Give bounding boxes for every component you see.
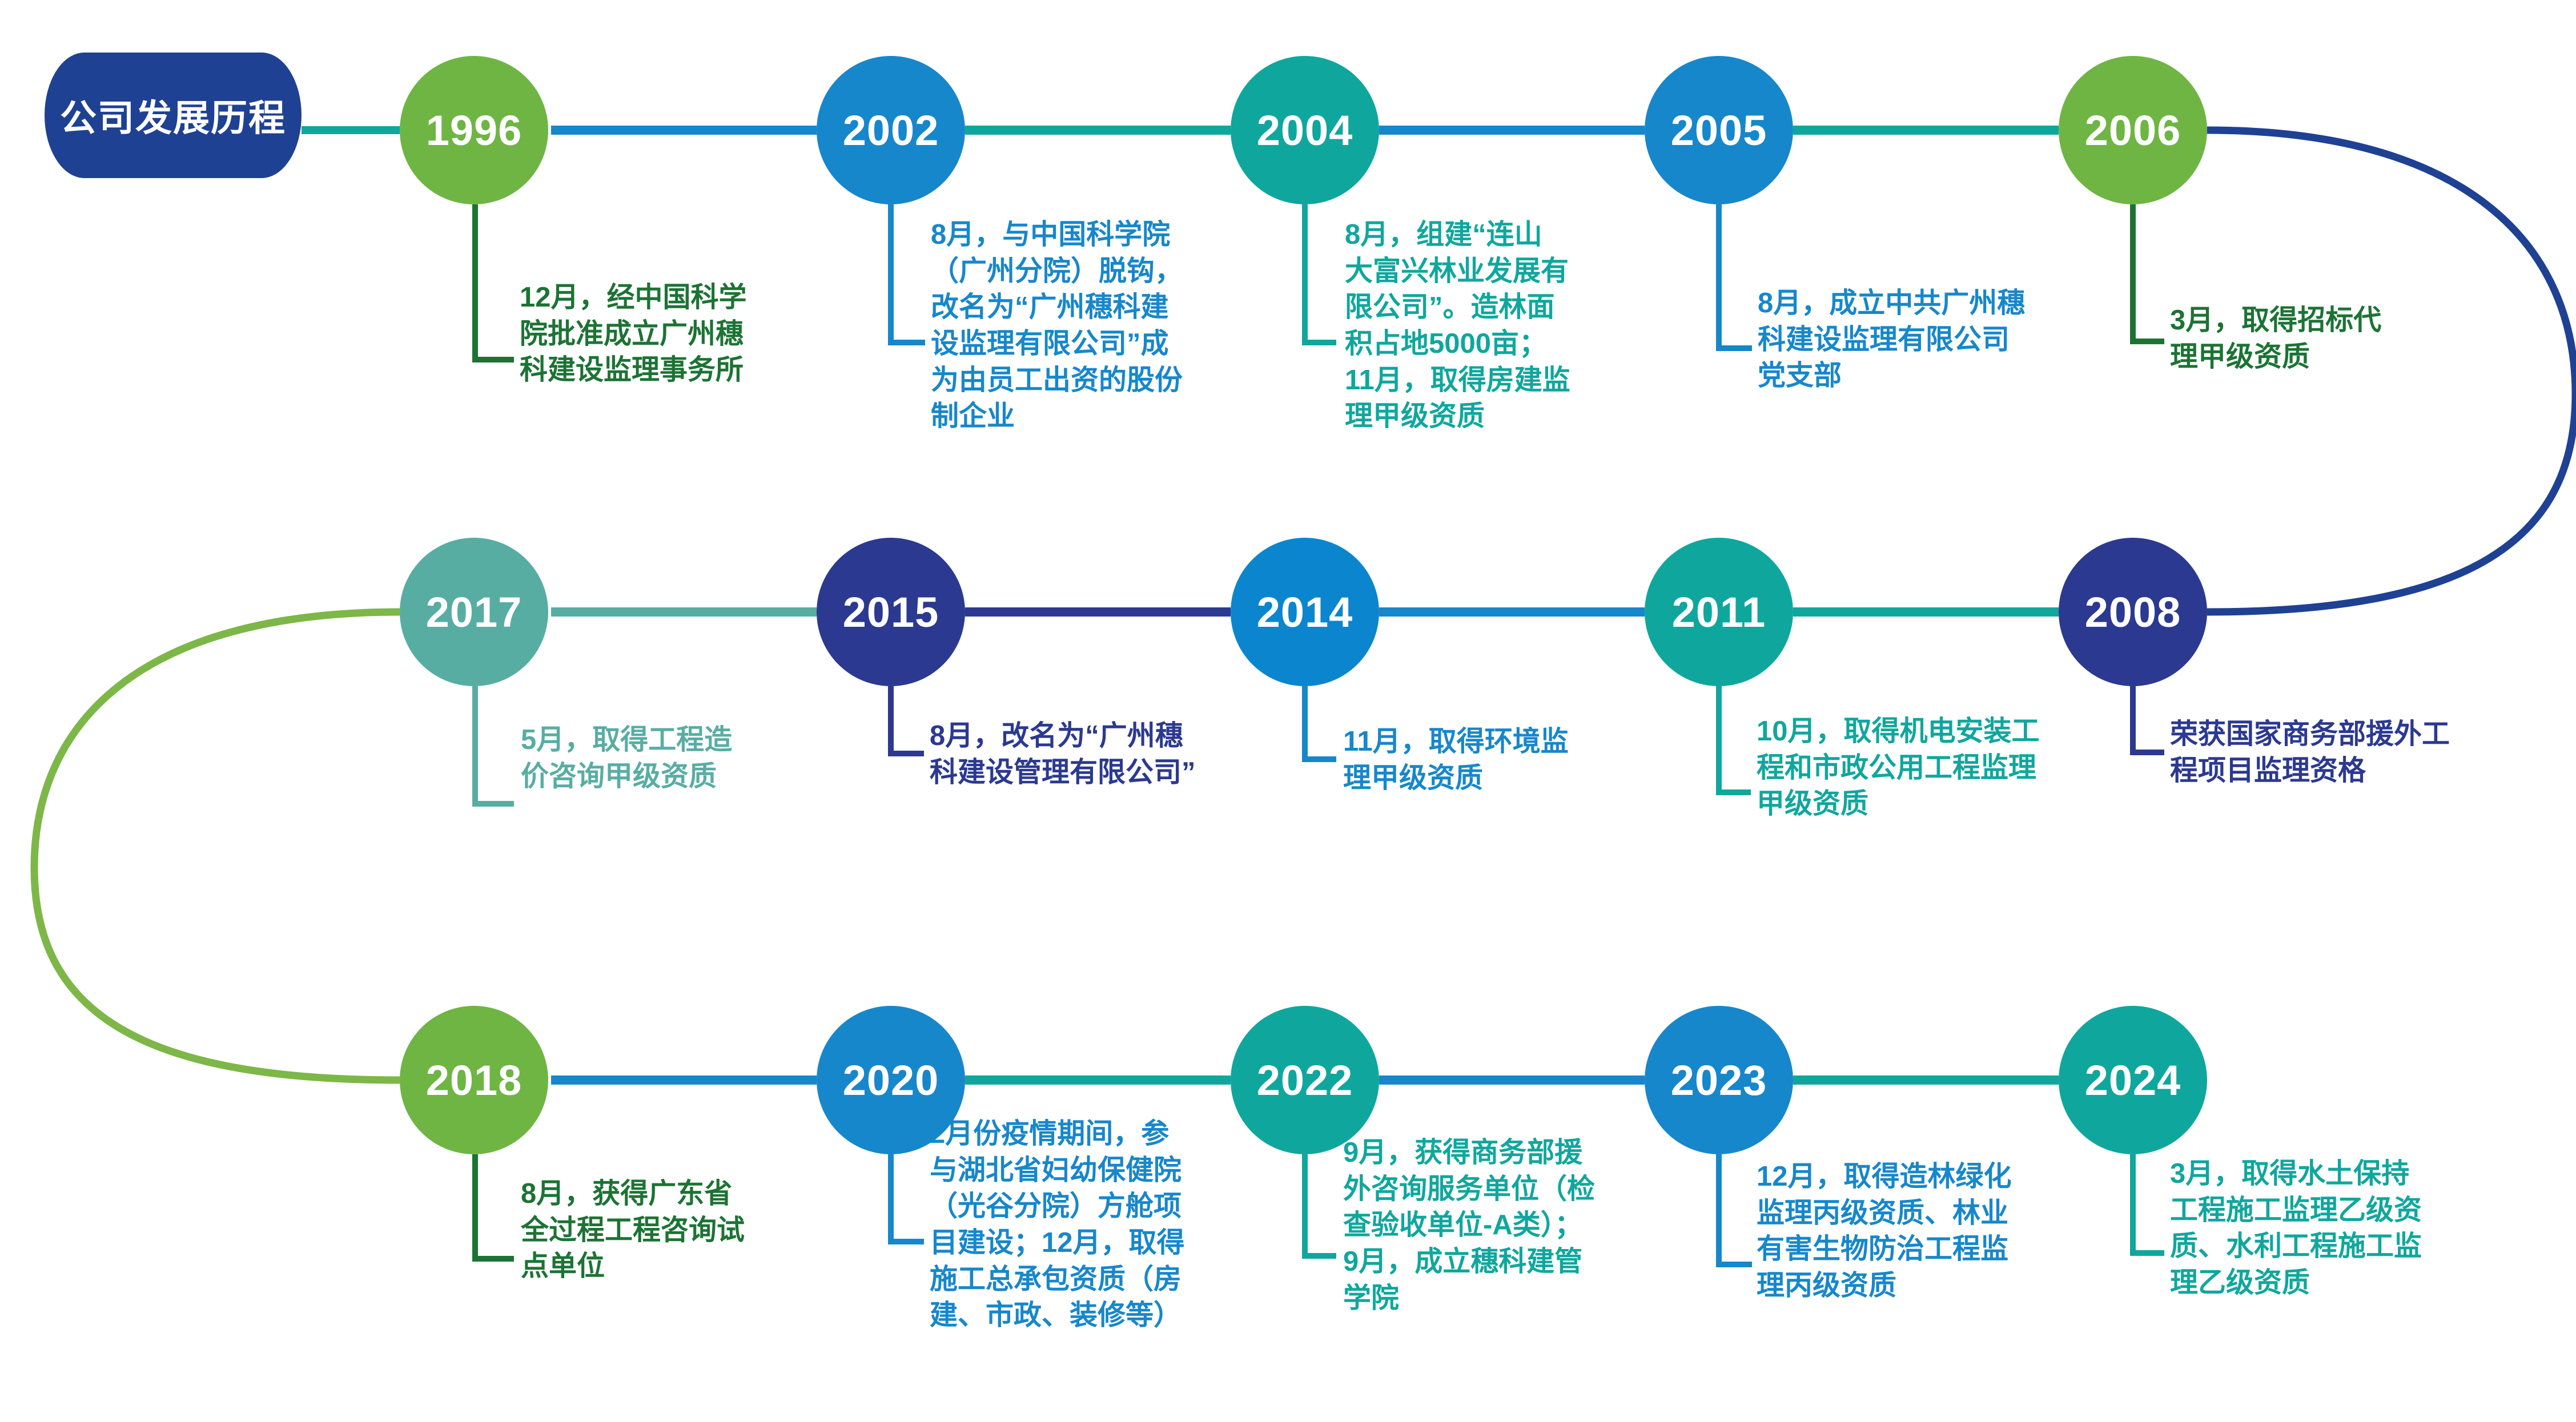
desc-2011: 10月，取得机电安装工 程和市政公用工程监理 甲级资质 (1757, 714, 2099, 823)
year-node-2022[interactable]: 2022 (1231, 1006, 1379, 1154)
desc-2008: 荣获国家商务部援外工 程项目监理资格 (2170, 716, 2513, 789)
year-node-2011[interactable]: 2011 (1645, 538, 1793, 686)
desc-2015: 8月，改名为“广州穗 科建设管理有限公司” (930, 718, 1295, 791)
timeline-diagram: 公司发展历程 1996 2002 2004 2005 2006 12月，经中国科… (0, 0, 2576, 1422)
year-node-1996[interactable]: 1996 (400, 56, 548, 204)
year-node-2006[interactable]: 2006 (2059, 56, 2207, 204)
year-node-2017[interactable]: 2017 (400, 538, 548, 686)
year-label: 2024 (2085, 1056, 2181, 1105)
year-label: 2011 (1672, 588, 1766, 637)
desc-2017: 5月，取得工程造 价咨询甲级资质 (521, 722, 795, 795)
year-node-2004[interactable]: 2004 (1231, 56, 1379, 204)
year-label: 2018 (426, 1056, 523, 1105)
stem-2005 (1719, 204, 1752, 348)
stem-2004 (1305, 204, 1336, 343)
year-node-2014[interactable]: 2014 (1231, 538, 1379, 686)
stem-2014 (1305, 686, 1336, 759)
year-node-2023[interactable]: 2023 (1645, 1006, 1793, 1154)
year-node-2015[interactable]: 2015 (817, 538, 965, 686)
year-label: 2020 (843, 1056, 939, 1105)
year-label: 2023 (1671, 1056, 1767, 1105)
desc-2005: 8月，成立中共广州穗 科建设监理有限公司 党支部 (1758, 285, 2089, 394)
stem-2011 (1719, 686, 1751, 792)
desc-2004: 8月，组建“连山 大富兴林业发展有 限公司”。造林面 积占地5000亩； 11月… (1345, 217, 1636, 435)
desc-2018: 8月，获得广东省 全过程工程咨询试 点单位 (521, 1176, 818, 1285)
year-label: 2015 (843, 588, 939, 637)
stem-2024 (2133, 1154, 2164, 1253)
year-label: 2022 (1257, 1056, 1353, 1105)
year-label: 2006 (2085, 106, 2181, 155)
stem-2018 (475, 1154, 514, 1259)
year-node-2008[interactable]: 2008 (2059, 538, 2207, 686)
year-node-2005[interactable]: 2005 (1645, 56, 1793, 204)
stem-1996 (475, 204, 514, 360)
year-label: 2005 (1671, 106, 1767, 155)
diagram-title-badge: 公司发展历程 (45, 53, 302, 178)
desc-2024: 3月，取得水土保持 工程施工监理乙级资 质、水利工程施工监 理乙级资质 (2170, 1156, 2490, 1302)
desc-2020: 2月份疫情期间，参 与湖北省妇幼保健院 （光谷分院）方舱项 目建设；12月，取得… (930, 1116, 1249, 1334)
year-label: 1996 (426, 106, 523, 155)
stem-2008 (2133, 686, 2164, 752)
year-node-2018[interactable]: 2018 (400, 1006, 548, 1154)
year-label: 2008 (2085, 588, 2181, 637)
year-label: 2014 (1257, 588, 1353, 637)
loop-left-2017-to-2018 (34, 612, 400, 1080)
stem-2002 (891, 204, 925, 343)
year-label: 2017 (426, 588, 523, 637)
year-label: 2004 (1257, 106, 1353, 155)
desc-1996: 12月，经中国科学 院批准成立广州穗 科建设监理事务所 (520, 280, 822, 389)
year-node-2024[interactable]: 2024 (2059, 1006, 2207, 1154)
year-label: 2002 (843, 106, 939, 155)
stem-2020-line (891, 1154, 924, 1242)
desc-2006: 3月，取得招标代 理甲级资质 (2170, 303, 2467, 375)
stem-2023 (1719, 1154, 1752, 1264)
year-node-2002[interactable]: 2002 (817, 56, 965, 204)
diagram-title-label: 公司发展历程 (60, 89, 286, 142)
stem-2015 (891, 686, 924, 754)
desc-2002: 8月，与中国科学院 （广州分院）脱钩， 改名为“广州穗科建 设监理有限公司”成 … (931, 217, 1251, 435)
desc-2014: 11月，取得环境监 理甲级资质 (1343, 724, 1629, 796)
desc-2022: 9月，获得商务部援 外咨询服务单位（检 查验收单位-A类）； 9月，成立穗科建管… (1343, 1135, 1646, 1316)
stem-2006 (2133, 204, 2164, 341)
stem-2017 (475, 686, 514, 804)
stem-2022 (1305, 1154, 1336, 1256)
desc-2023: 12月，取得造林绿化 监理丙级资质、林业 有害生物防治工程监 理丙级资质 (1757, 1159, 2076, 1304)
